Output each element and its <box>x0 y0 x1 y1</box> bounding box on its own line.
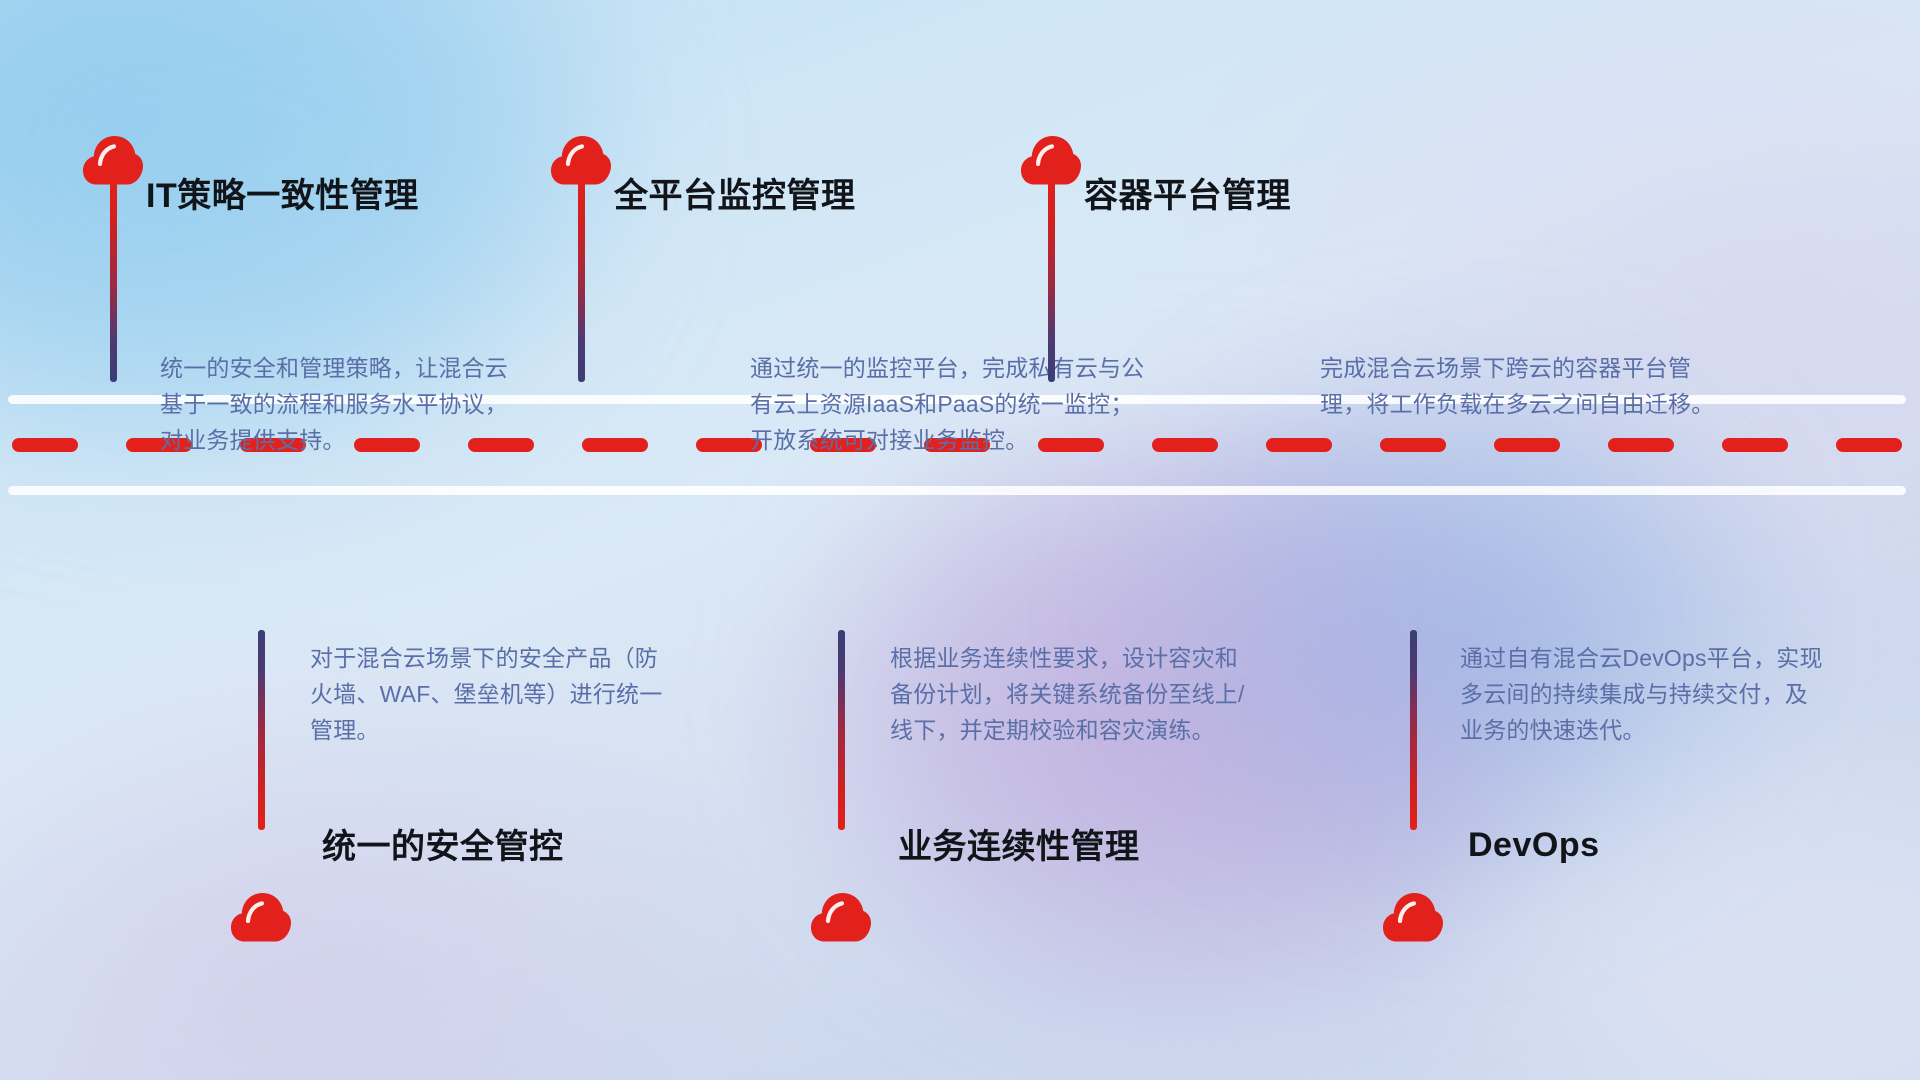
road-dash <box>1380 438 1446 452</box>
node-title: 统一的安全管控 <box>322 830 564 864</box>
stem-line <box>1048 182 1055 382</box>
node-title: 业务连续性管理 <box>898 830 1140 864</box>
cloud-icon <box>82 133 144 185</box>
node-body: 通过自有混合云DevOps平台，实现多云间的持续集成与持续交付，及业务的快速迭代… <box>1460 640 1830 748</box>
cloud-icon <box>550 133 612 185</box>
node-body: 对于混合云场景下的安全产品（防火墙、WAF、堡垒机等）进行统一管理。 <box>310 640 680 748</box>
road-line-bottom <box>8 486 1906 495</box>
node-title: IT策略一致性管理 <box>146 179 419 213</box>
cloud-icon <box>1382 890 1444 942</box>
node-body: 通过统一的监控平台，完成私有云与公有云上资源IaaS和PaaS的统一监控；开放系… <box>750 350 1145 458</box>
cloud-icon <box>810 890 872 942</box>
road-dash <box>1266 438 1332 452</box>
node-body: 根据业务连续性要求，设计容灾和备份计划，将关键系统备份至线上/线下，并定期校验和… <box>890 640 1260 748</box>
road-dash <box>1722 438 1788 452</box>
road-dash <box>1152 438 1218 452</box>
road-dash <box>582 438 648 452</box>
bokeh-blob-soft-white <box>1500 760 1920 1080</box>
stem-line <box>110 182 117 382</box>
stem-line <box>578 182 585 382</box>
node-title: 全平台监控管理 <box>614 179 856 213</box>
cloud-icon <box>230 890 292 942</box>
stem-line <box>1410 630 1417 830</box>
node-body: 完成混合云场景下跨云的容器平台管理，将工作负载在多云之间自由迁移。 <box>1320 350 1715 422</box>
node-body: 统一的安全和管理策略，让混合云基于一致的流程和服务水平协议，对业务提供支持。 <box>160 350 530 458</box>
stem-line <box>838 630 845 830</box>
road-dash <box>1836 438 1902 452</box>
road-dash <box>1608 438 1674 452</box>
node-title: 容器平台管理 <box>1084 179 1291 213</box>
cloud-icon <box>1020 133 1082 185</box>
node-title: DevOps <box>1468 828 1600 862</box>
stem-line <box>258 630 265 830</box>
infographic-canvas: IT策略一致性管理 统一的安全和管理策略，让混合云基于一致的流程和服务水平协议，… <box>0 0 1920 1080</box>
road-dash <box>1494 438 1560 452</box>
road-dash <box>12 438 78 452</box>
